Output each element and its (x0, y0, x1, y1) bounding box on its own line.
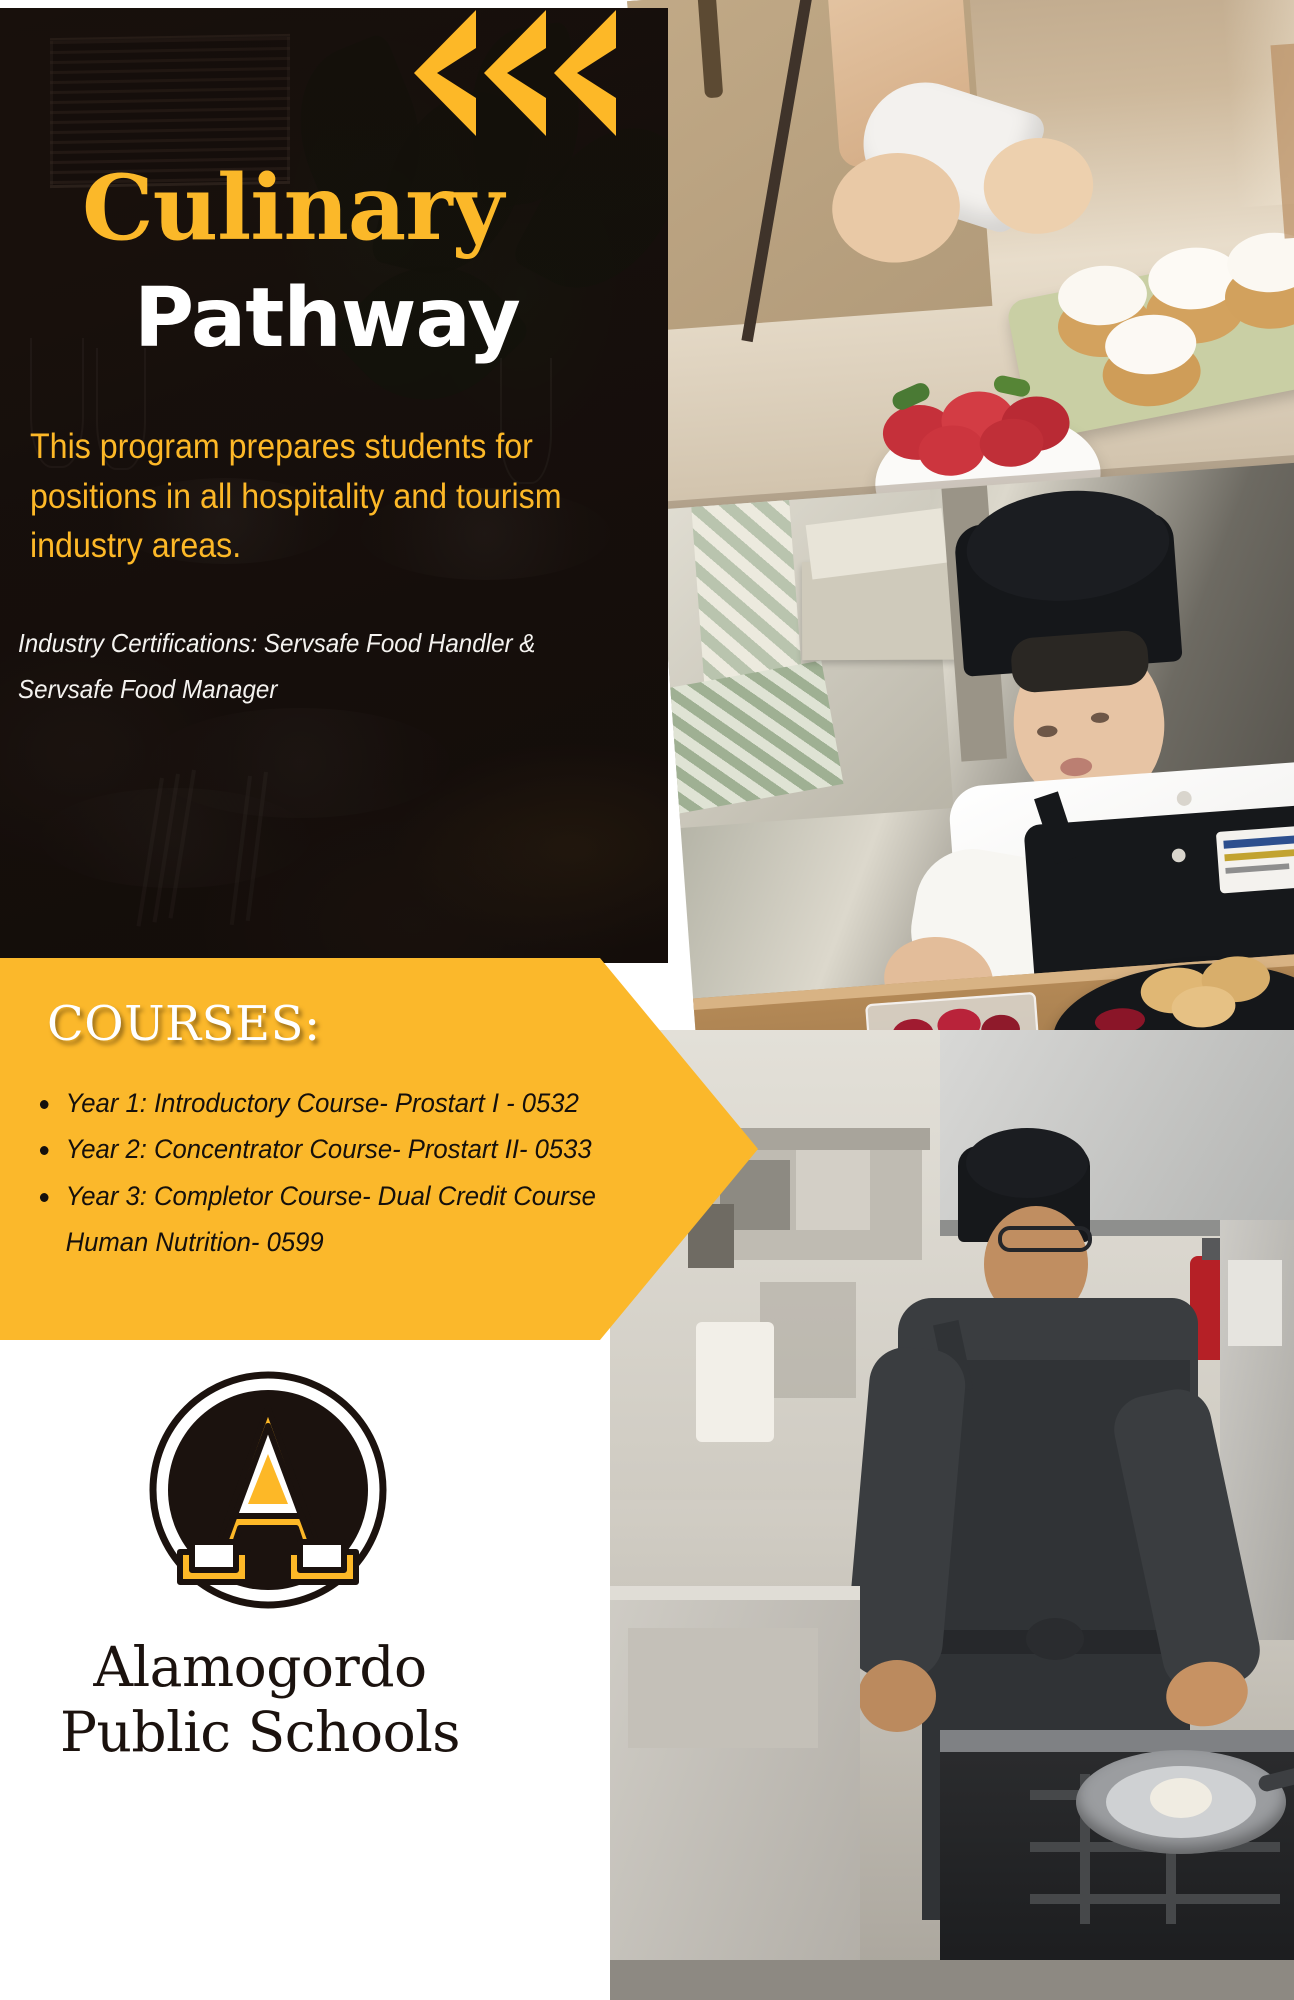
organization-name-line1: Alamogordo (0, 1635, 520, 1700)
courses-banner: COURSES: Year 1: Introductory Course- Pr… (0, 958, 758, 1340)
poster-canvas: Culinary Pathway This program prepares s… (0, 0, 1294, 2000)
footer-block: Alamogordo Public Schools (0, 1340, 600, 2000)
photo-collage (694, 0, 1294, 2000)
course-list-item-continuation: Human Nutrition- 0599 (20, 1219, 628, 1265)
poster-title-line1: Culinary (82, 163, 503, 253)
courses-heading: COURSES: (47, 1000, 321, 1048)
courses-list: Year 1: Introductory Course- Prostart I … (20, 1080, 660, 1266)
poster-title-line2: Pathway (134, 278, 520, 360)
school-crest-icon (148, 1370, 388, 1610)
alamogordo-logo (148, 1370, 388, 1610)
organization-name-line2: Public Schools (0, 1700, 520, 1765)
course-list-item: Year 2: Concentrator Course- Prostart II… (20, 1126, 628, 1172)
organization-name: Alamogordo Public Schools (0, 1635, 520, 1765)
program-description: This program prepares students for posit… (30, 422, 610, 571)
industry-certifications: Industry Certifications: Servsafe Food H… (18, 620, 613, 713)
course-list-item: Year 1: Introductory Course- Prostart I … (20, 1080, 628, 1126)
course-list-item: Year 3: Completor Course- Dual Credit Co… (20, 1173, 628, 1219)
